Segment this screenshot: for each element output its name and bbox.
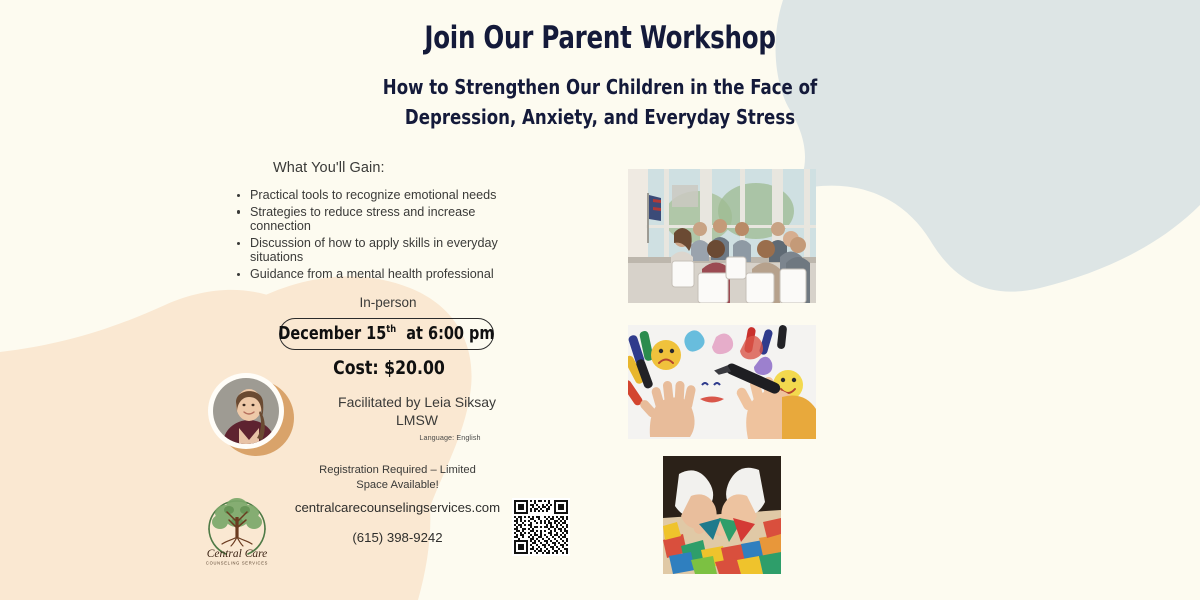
poster-title: Join Our Parent Workshop	[362, 22, 837, 55]
facilitator-name: Facilitated by Leia Siksay	[312, 394, 522, 412]
child-drawing-emotions-photo	[628, 325, 816, 439]
language-note: Language: English	[400, 433, 500, 442]
group-therapy-circle-photo	[628, 169, 816, 303]
child-color-tiles-photo	[663, 456, 781, 574]
central-care-logo: Central Care COUNSELING SERVICES	[196, 487, 278, 569]
registration-note-line-2: Space Available!	[295, 478, 500, 493]
qr-code-icon	[512, 498, 570, 556]
logo-tagline: COUNSELING SERVICES	[206, 561, 268, 566]
event-date-time: at 6:00 pm	[406, 324, 494, 344]
benefits-heading: What You'll Gain:	[273, 160, 385, 176]
list-item: Strategies to reduce stress and increase…	[248, 205, 516, 234]
phone-number[interactable]: (615) 398-9242	[300, 530, 495, 545]
logo-name: Central Care	[207, 548, 268, 560]
registration-note-line-1: Registration Required – Limited	[295, 463, 500, 478]
facilitator-portrait	[213, 378, 279, 444]
event-date-pill: December 15th at 6:00 pm	[279, 318, 494, 350]
facilitator-block: Facilitated by Leia Siksay LMSW	[312, 394, 522, 430]
logo-illustration: Central Care COUNSELING SERVICES	[196, 487, 278, 569]
website-link[interactable]: centralcarecounselingservices.com	[255, 500, 540, 515]
list-item: Guidance from a mental health profession…	[248, 267, 516, 281]
portrait-illustration	[213, 378, 279, 444]
benefits-list: Practical tools to recognize emotional n…	[234, 188, 516, 284]
registration-qr-code[interactable]	[512, 498, 570, 556]
tiles-photo-illustration	[663, 456, 781, 574]
subtitle-line-1: How to Strengthen Our Children in the Fa…	[357, 73, 843, 103]
event-format: In-person	[288, 295, 488, 310]
list-item: Discussion of how to apply skills in eve…	[248, 236, 516, 265]
poster-subtitle: How to Strengthen Our Children in the Fa…	[357, 73, 843, 132]
subtitle-line-2: Depression, Anxiety, and Everyday Stress	[357, 103, 843, 133]
list-item: Practical tools to recognize emotional n…	[248, 188, 516, 202]
headline-block: Join Our Parent Workshop How to Strength…	[330, 22, 870, 132]
registration-note: Registration Required – Limited Space Av…	[295, 463, 500, 492]
facilitator-credential: LMSW	[312, 412, 522, 430]
group-photo-illustration	[628, 169, 816, 303]
avatar	[208, 373, 292, 457]
drawing-photo-illustration	[628, 325, 816, 439]
event-cost: Cost: $20.00	[297, 357, 481, 379]
event-date-text: December 15th at 6:00 pm	[278, 324, 494, 344]
event-date-monthday: December 15	[278, 324, 386, 344]
poster-canvas: Join Our Parent Workshop How to Strength…	[0, 0, 1200, 600]
event-date-ordinal: th	[386, 324, 396, 335]
